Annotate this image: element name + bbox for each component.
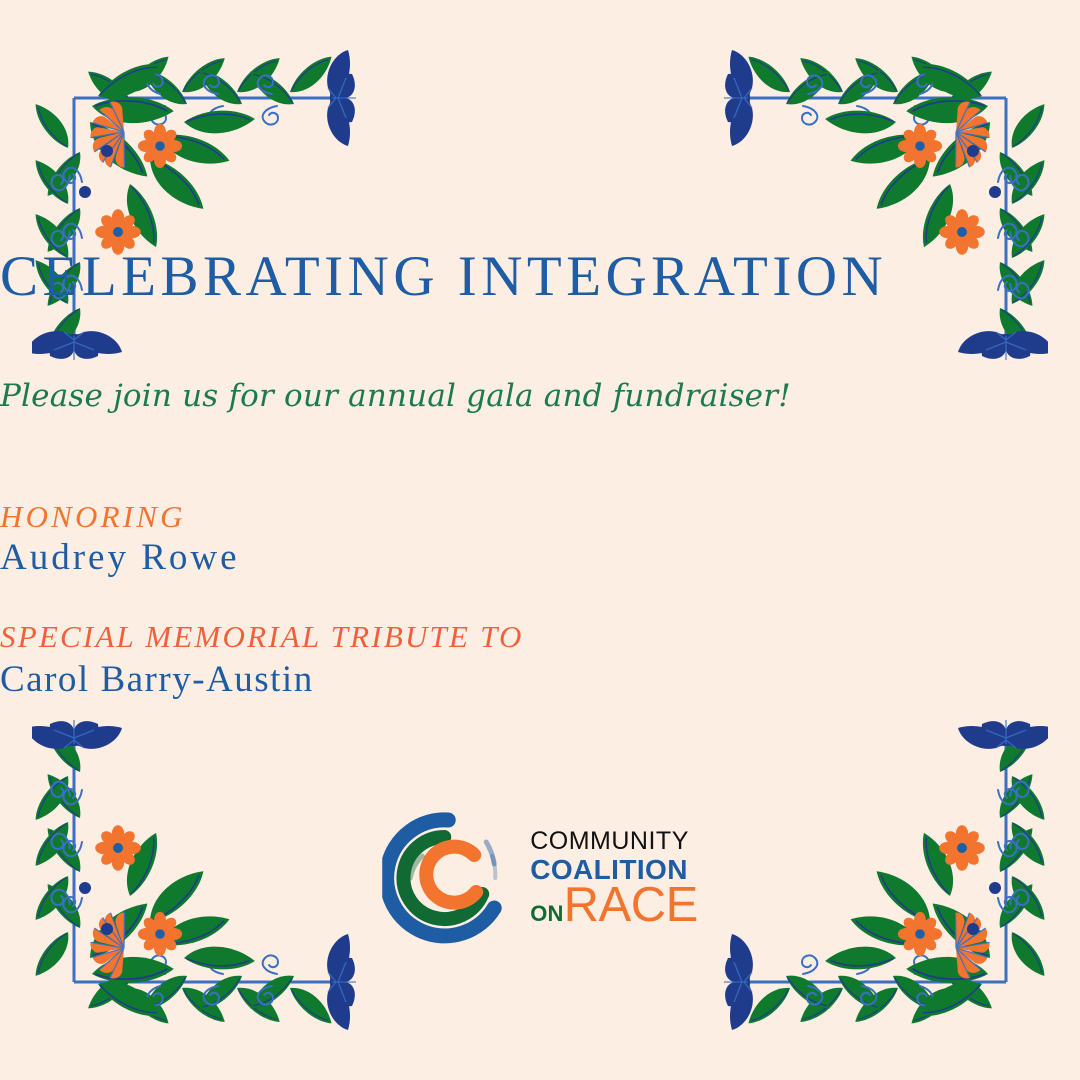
invitation-poster: CELEBRATING INTEGRATION Please join us f… [0,0,1080,1080]
green-leaf [231,54,287,97]
green-leaf [143,148,208,221]
blue-curl [63,224,82,239]
green-leaf [122,180,161,251]
honoree-name: Audrey Rowe [0,538,1080,579]
navy-dot [101,145,113,157]
honoring-label: HONORING [0,500,1080,534]
green-leaf [93,59,167,104]
poster-title: CELEBRATING INTEGRATION [0,248,1080,305]
green-leaf [156,122,232,178]
green-leaf [44,146,86,202]
blue-curl [63,168,82,183]
tribute-name: Carol Barry-Austin [0,660,1080,701]
blue-curl [51,175,70,190]
poster-subtitle: Please join us for our annual gala and f… [0,378,1080,415]
green-leaf [81,68,137,110]
navy-dot [79,186,91,198]
floral-corner-top-left [32,36,362,366]
blue-curl [258,75,273,94]
green-leaf [284,53,340,97]
orange-aster [79,99,143,176]
green-leaf [137,66,193,109]
green-leaf [183,106,255,137]
blue-curl [151,106,166,125]
floral-corner-bottom-left [32,714,362,1044]
green-leaf [83,111,152,189]
green-leaf [90,88,175,132]
brush-rings-icon [382,812,514,944]
navy-fan-flower [327,50,356,146]
blue-curl [209,106,224,125]
blue-curl [146,74,164,94]
green-leaf [176,54,232,97]
green-leaf [243,68,299,110]
green-leaf [32,153,74,209]
logo-word-race: RACE [564,885,698,926]
green-leaf [192,66,248,109]
floral-corner-top-right [718,36,1048,366]
logo-word-on: ON [530,903,563,927]
floral-corner-bottom-right [718,714,1048,1044]
green-leaf [121,53,177,97]
tribute-label: SPECIAL MEMORIAL TRIBUTE TO [0,620,1080,654]
orange-daisy [138,124,182,168]
logo-wordmark: COMMUNITY COALITION ON RACE [530,829,698,926]
green-leaf [32,97,74,153]
navy-fan-flower [32,331,122,360]
organization-logo: COMMUNITY COALITION ON RACE [382,812,698,944]
logo-line-community: COMMUNITY [530,829,689,854]
blue-curl [263,106,278,125]
logo-line-on-race: ON RACE [530,885,698,926]
green-leaf [44,302,86,358]
blue-curl [204,75,219,94]
